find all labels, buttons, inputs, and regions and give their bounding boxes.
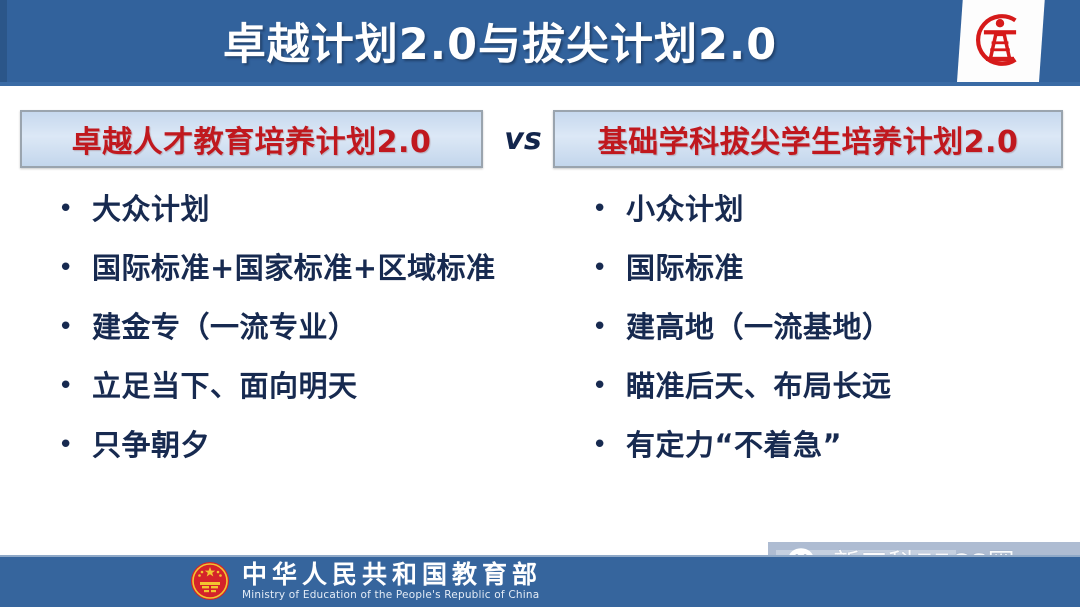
vs-separator: vs: [495, 110, 551, 168]
china-national-emblem-icon: [190, 561, 230, 601]
bullet-dot-icon: •: [592, 424, 626, 466]
ministry-name-cn: 中华人民共和国教育部: [242, 561, 542, 588]
list-item-label: 建金专（一流专业）: [92, 306, 358, 348]
bullet-dot-icon: •: [58, 188, 92, 230]
ministry-name-en: Ministry of Education of the People's Re…: [242, 588, 542, 602]
list-item-label: 立足当下、面向明天: [92, 365, 358, 407]
list-item: • 瞄准后天、布局长远: [592, 365, 1062, 424]
bullet-dot-icon: •: [592, 306, 626, 348]
list-item-label: 建高地（一流基地）: [626, 306, 892, 348]
bullet-dot-icon: •: [592, 188, 626, 230]
right-program-title: 基础学科拔尖学生培养计划2.0: [598, 117, 1019, 161]
list-item-label: 小众计划: [626, 188, 744, 230]
list-item: • 立足当下、面向明天: [58, 365, 578, 424]
list-item-label: 只争朝夕: [92, 424, 210, 466]
bullet-dot-icon: •: [58, 247, 92, 289]
list-item-label: 瞄准后天、布局长远: [626, 365, 892, 407]
list-item-label: 国际标准: [626, 247, 744, 289]
list-item: • 建高地（一流基地）: [592, 306, 1062, 365]
slide-root: 卓越计划2.0与拔尖计划2.0 卓越人才教育培养计划2.0 vs 基础学科拔尖学…: [0, 0, 1080, 607]
bullet-dot-icon: •: [58, 424, 92, 466]
bullet-dot-icon: •: [58, 306, 92, 348]
list-item: • 建金专（一流专业）: [58, 306, 578, 365]
left-program-title: 卓越人才教育培养计划2.0: [72, 117, 432, 161]
list-item-label: 大众计划: [92, 188, 210, 230]
list-item: • 只争朝夕: [58, 424, 578, 483]
list-item: • 大众计划: [58, 188, 578, 247]
bullet-dot-icon: •: [592, 365, 626, 407]
left-bullet-column: • 大众计划 • 国际标准+国家标准+区域标准 • 建金专（一流专业） • 立足…: [58, 188, 578, 483]
page-title: 卓越计划2.0与拔尖计划2.0: [0, 0, 1000, 82]
right-program-title-box: 基础学科拔尖学生培养计划2.0: [553, 110, 1063, 168]
footer-top-divider: [0, 555, 1080, 557]
bullet-dot-icon: •: [592, 247, 626, 289]
header-underline: [0, 82, 1080, 86]
left-program-title-box: 卓越人才教育培养计划2.0: [20, 110, 483, 168]
right-bullet-column: • 小众计划 • 国际标准 • 建高地（一流基地） • 瞄准后天、布局长远 • …: [592, 188, 1062, 483]
ministry-of-education-branding: 中华人民共和国教育部 Ministry of Education of the …: [190, 558, 542, 604]
list-item-label: 有定力“不着急”: [626, 424, 842, 466]
bullet-dot-icon: •: [58, 365, 92, 407]
list-item: • 小众计划: [592, 188, 1062, 247]
ministry-text-block: 中华人民共和国教育部 Ministry of Education of the …: [242, 561, 542, 602]
list-item: • 国际标准: [592, 247, 1062, 306]
list-item-label: 国际标准+国家标准+区域标准: [92, 247, 496, 289]
list-item: • 有定力“不着急”: [592, 424, 1062, 483]
tianjin-university-circular-emblem-icon: [965, 5, 1035, 75]
list-item: • 国际标准+国家标准+区域标准: [58, 247, 578, 306]
